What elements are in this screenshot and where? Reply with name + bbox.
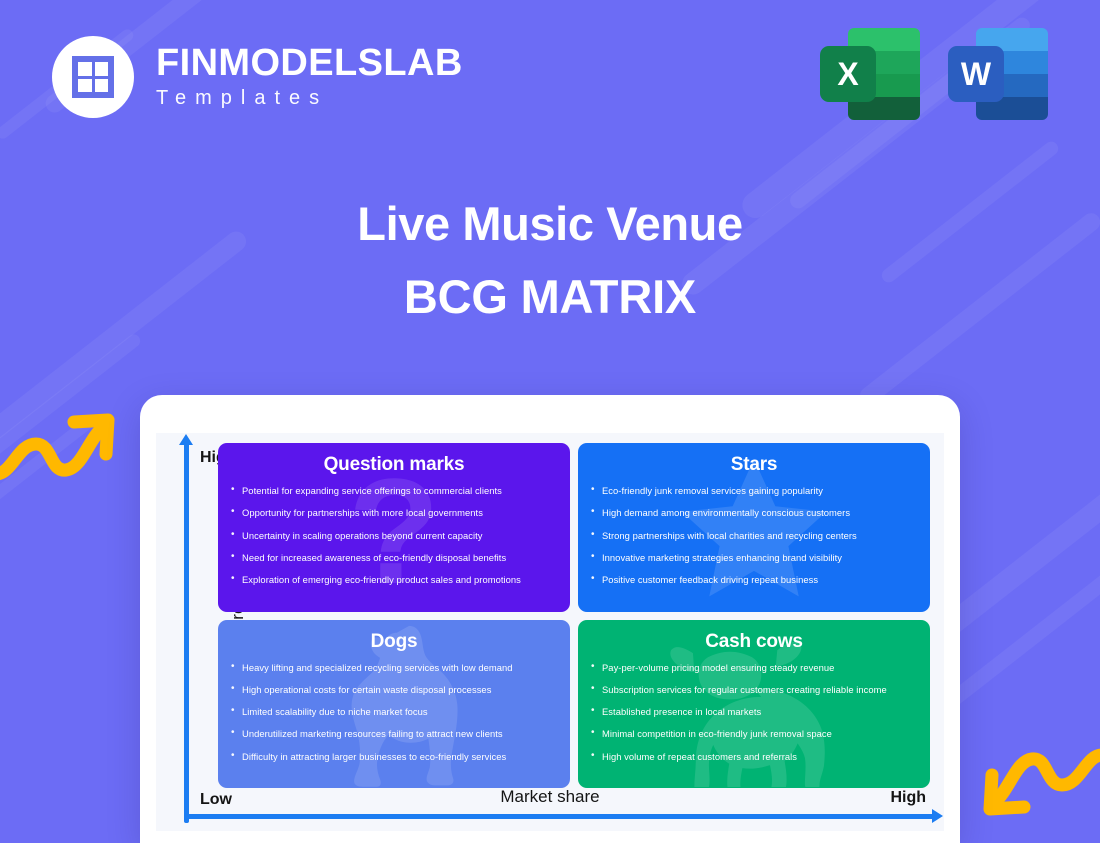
logo-circle — [52, 36, 134, 118]
brand-logo: FINMODELSLAB Templates — [52, 36, 463, 118]
word-badge-letter: W — [948, 46, 1004, 102]
list-item: Pay-per-volume pricing model ensuring st… — [590, 662, 918, 674]
list-item: High demand among environmentally consci… — [590, 507, 918, 519]
quadrant-dogs[interactable]: Dogs Heavy lifting and specialized recyc… — [218, 620, 570, 789]
list-item: Uncertainty in scaling operations beyond… — [230, 530, 558, 542]
list-item: Need for increased awareness of eco-frie… — [230, 552, 558, 564]
list-item: Underutilized marketing resources failin… — [230, 728, 558, 740]
x-axis — [184, 814, 934, 819]
quadrant-item-list: Pay-per-volume pricing model ensuring st… — [590, 662, 918, 763]
list-item: Established presence in local markets — [590, 706, 918, 718]
quadrant-grid: ? Question marks Potential for expanding… — [218, 443, 930, 788]
list-item: Positive customer feedback driving repea… — [590, 574, 918, 586]
bcg-matrix: High Low High Market growth Market share… — [156, 433, 944, 831]
quadrant-item-list: Eco-friendly junk removal services gaini… — [590, 485, 918, 586]
quadrant-title: Question marks — [230, 454, 558, 476]
quadrant-title: Stars — [590, 454, 918, 476]
title-line-2: BCG MATRIX — [0, 269, 1100, 324]
brand-name: FINMODELSLAB — [156, 44, 463, 84]
list-item: Limited scalability due to niche market … — [230, 706, 558, 718]
list-item: Heavy lifting and specialized recycling … — [230, 662, 558, 674]
x-axis-title: Market share — [156, 787, 944, 807]
quadrant-title: Dogs — [230, 631, 558, 653]
quadrant-stars[interactable]: Stars Eco-friendly junk removal services… — [578, 443, 930, 612]
list-item: High operational costs for certain waste… — [230, 684, 558, 696]
quadrant-item-list: Potential for expanding service offering… — [230, 485, 558, 586]
list-item: Difficulty in attracting larger business… — [230, 751, 558, 763]
grid-2x2-icon — [72, 56, 114, 98]
excel-badge-letter: X — [820, 46, 876, 102]
word-icon: W — [948, 28, 1048, 120]
file-format-icons: X W — [820, 28, 1048, 120]
list-item: Innovative marketing strategies enhancin… — [590, 552, 918, 564]
list-item: Opportunity for partnerships with more l… — [230, 507, 558, 519]
excel-icon: X — [820, 28, 920, 120]
list-item: Exploration of emerging eco-friendly pro… — [230, 574, 558, 586]
quadrant-cash-cows[interactable]: Cash cows Pay-per-volume pricing model e… — [578, 620, 930, 789]
list-item: Strong partnerships with local charities… — [590, 530, 918, 542]
quadrant-item-list: Heavy lifting and specialized recycling … — [230, 662, 558, 763]
page-title: Live Music Venue BCG MATRIX — [0, 196, 1100, 325]
list-item: Eco-friendly junk removal services gaini… — [590, 485, 918, 497]
list-item: Subscription services for regular custom… — [590, 684, 918, 696]
quadrant-question-marks[interactable]: ? Question marks Potential for expanding… — [218, 443, 570, 612]
matrix-card: High Low High Market growth Market share… — [140, 395, 960, 843]
brand-tagline: Templates — [156, 87, 463, 110]
title-line-1: Live Music Venue — [0, 196, 1100, 251]
list-item: High volume of repeat customers and refe… — [590, 751, 918, 763]
list-item: Minimal competition in eco-friendly junk… — [590, 728, 918, 740]
list-item: Potential for expanding service offering… — [230, 485, 558, 497]
y-axis — [184, 443, 189, 823]
squiggle-arrow-up-right-icon — [0, 400, 122, 497]
quadrant-title: Cash cows — [590, 631, 918, 653]
squiggle-arrow-down-left-icon — [976, 735, 1100, 832]
